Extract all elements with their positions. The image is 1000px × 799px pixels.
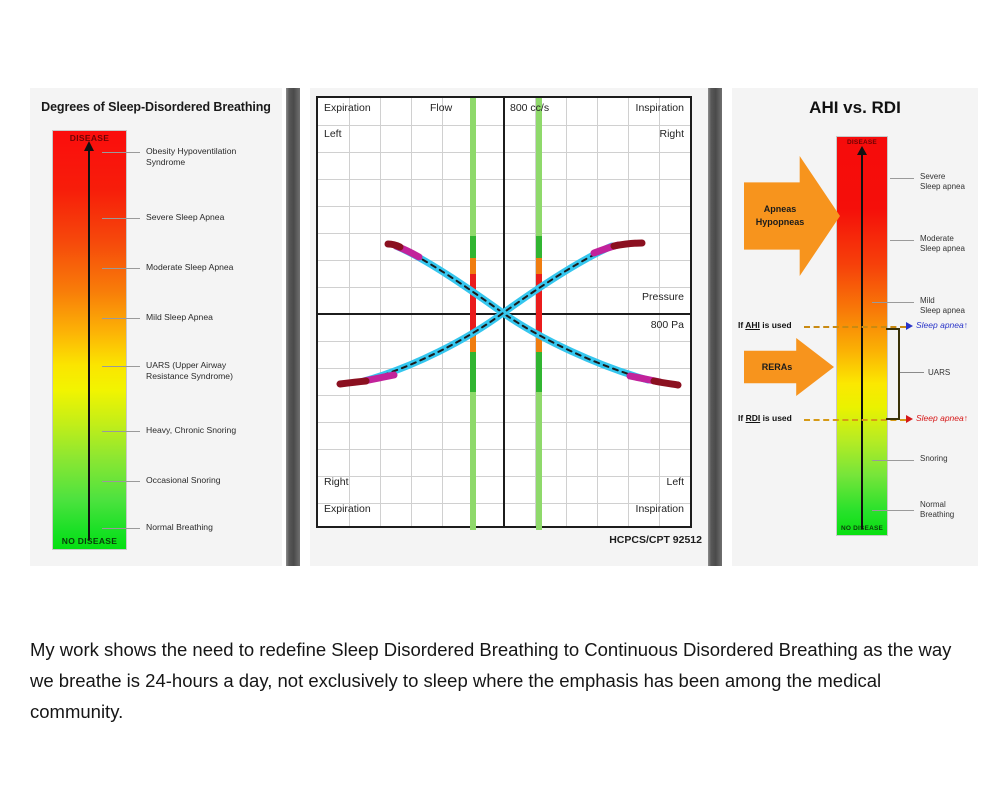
panel-separator-right xyxy=(708,88,722,566)
chart-label-flow: Flow xyxy=(430,102,452,114)
chart-label-flow-value: 800 cc/s xyxy=(510,102,549,114)
panel-rhinomanometry-chart: Expiration Left Flow 800 cc/s Inspiratio… xyxy=(310,88,708,566)
ahi-tick xyxy=(872,460,914,461)
ahi-tick xyxy=(890,240,914,241)
rdi-arrowhead-icon xyxy=(906,415,913,423)
degrees-tick xyxy=(102,152,140,153)
uars-leader-line xyxy=(900,372,924,373)
ahi-arrowhead-icon xyxy=(906,322,913,330)
uars-bracket xyxy=(886,328,900,420)
degrees-item-label: Mild Sleep Apnea xyxy=(146,312,213,323)
chart-label-left-top: Left xyxy=(324,128,342,140)
degrees-tick xyxy=(102,431,140,432)
ahi-severity-label: Normal Breathing xyxy=(920,500,954,519)
slide-root: Degrees of Sleep-Disordered Breathing DI… xyxy=(0,0,1000,799)
ahi-severity-label: Mild Sleep apnea xyxy=(920,296,965,315)
panel-degrees-of-sleep-disordered-breathing: Degrees of Sleep-Disordered Breathing DI… xyxy=(30,88,282,566)
degrees-item-label: Occasional Snoring xyxy=(146,475,221,486)
panel-ahi-vs-rdi: AHI vs. RDI DISEASE NO DISEASE Apneas Hy… xyxy=(732,88,978,566)
degrees-tick xyxy=(102,366,140,367)
chart-label-right-bottom: Right xyxy=(324,476,349,488)
ahi-severity-label-uars: UARS xyxy=(928,368,950,378)
panel-separator-left xyxy=(286,88,300,566)
degrees-item-label: UARS (Upper Airway Resistance Syndrome) xyxy=(146,360,233,382)
ahi-tick xyxy=(872,302,914,303)
chart-label-pressure: Pressure xyxy=(642,291,684,303)
ahi-result-text: Sleep apnea↑ xyxy=(916,320,968,330)
degrees-panel-title: Degrees of Sleep-Disordered Breathing xyxy=(30,100,282,114)
degrees-item-label: Moderate Sleep Apnea xyxy=(146,262,233,273)
degrees-upward-arrow-icon xyxy=(88,150,90,540)
chart-curves xyxy=(318,98,694,530)
chart-hcpcs-code: HCPCS/CPT 92512 xyxy=(609,534,702,546)
degrees-item-label: Normal Breathing xyxy=(146,522,213,533)
chart-label-expiration-top-left: Expiration xyxy=(324,102,371,114)
arrow-reras-label: RERAs xyxy=(762,361,793,374)
if-rdi-is-used-text: If RDI is used xyxy=(738,413,792,423)
ahi-severity-label: Moderate Sleep apnea xyxy=(920,234,965,253)
degrees-tick xyxy=(102,528,140,529)
degrees-tick xyxy=(102,268,140,269)
ahi-upward-arrow-icon xyxy=(861,154,863,529)
degrees-item-label: Obesity Hypoventilation Syndrome xyxy=(146,146,236,168)
chart-label-pressure-value: 800 Pa xyxy=(651,319,684,331)
if-ahi-is-used-text: If AHI is used xyxy=(738,320,792,330)
ahi-panel-title: AHI vs. RDI xyxy=(732,98,978,118)
degrees-item-label: Severe Sleep Apnea xyxy=(146,212,224,223)
slide-caption: My work shows the need to redefine Sleep… xyxy=(30,634,970,727)
chart-label-inspiration-bottom-right: Inspiration xyxy=(636,503,684,515)
arrow-apneas-label: Apneas Hypopneas xyxy=(756,203,805,229)
rdi-result-text: Sleep apnea↑ xyxy=(916,413,968,423)
ahi-severity-label: Snoring xyxy=(920,454,948,464)
degrees-item-label: Heavy, Chronic Snoring xyxy=(146,425,236,436)
chart-label-inspiration-top-right: Inspiration xyxy=(636,102,684,114)
degrees-tick xyxy=(102,218,140,219)
figure-band: Degrees of Sleep-Disordered Breathing DI… xyxy=(30,88,978,566)
arrow-apneas-hypopneas: Apneas Hypopneas xyxy=(744,156,840,276)
chart-label-right-top: Right xyxy=(659,128,684,140)
chart-plot-frame: Expiration Left Flow 800 cc/s Inspiratio… xyxy=(316,96,692,528)
degrees-tick xyxy=(102,481,140,482)
chart-label-expiration-bottom-left: Expiration xyxy=(324,503,371,515)
ahi-tick xyxy=(872,510,914,511)
ahi-tick xyxy=(890,178,914,179)
arrow-reras: RERAs xyxy=(744,338,834,396)
chart-label-left-bottom: Left xyxy=(666,476,684,488)
ahi-disease-label: DISEASE xyxy=(836,139,888,146)
degrees-tick xyxy=(102,318,140,319)
ahi-severity-label: Severe Sleep apnea xyxy=(920,172,965,191)
